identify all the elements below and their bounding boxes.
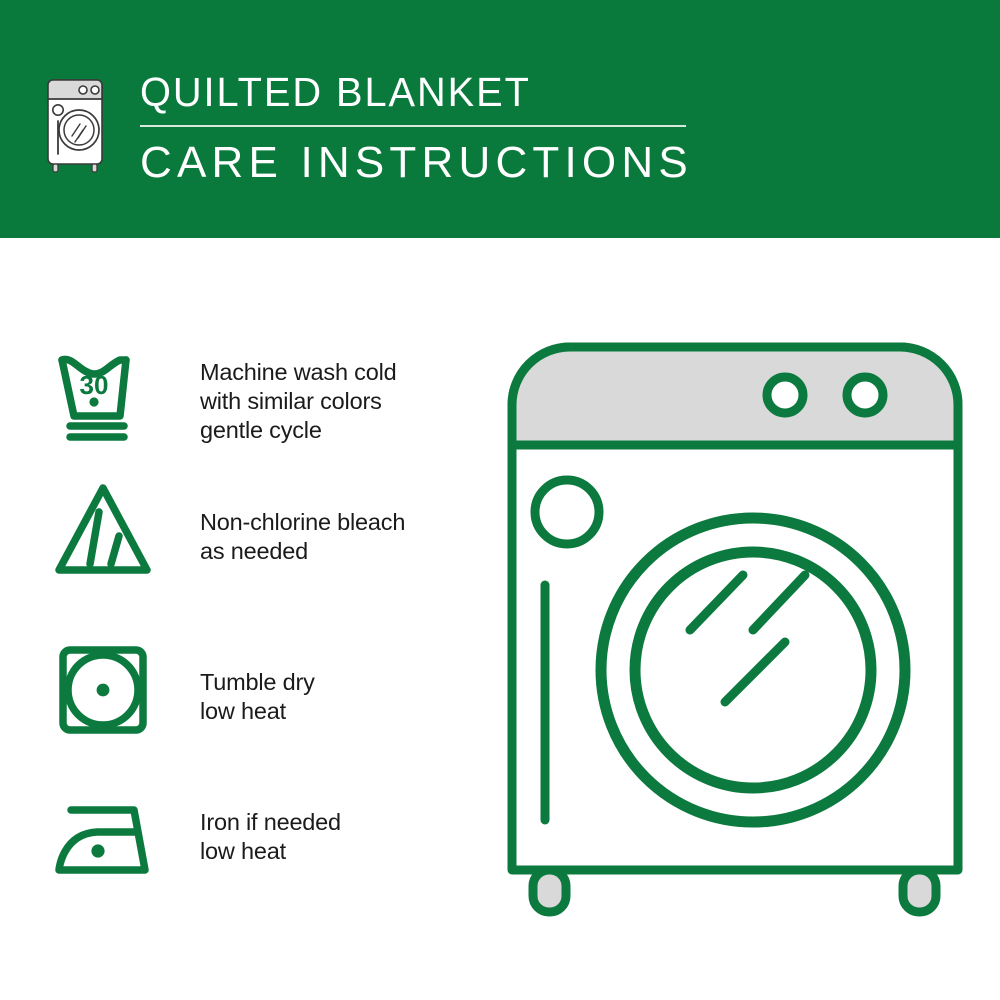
wash-tub-30-gentle-icon: 30 — [50, 342, 162, 446]
care-line: Iron if needed — [200, 808, 490, 837]
knob-left — [767, 377, 803, 413]
care-text-tumble-dry: Tumble dry low heat — [200, 668, 490, 726]
triangle-non-chlorine-bleach-icon — [50, 478, 162, 582]
care-line: Tumble dry — [200, 668, 490, 697]
care-line: gentle cycle — [200, 416, 490, 445]
care-text-iron: Iron if needed low heat — [200, 808, 490, 866]
wash-temperature-label: 30 — [80, 370, 109, 400]
care-text-wash: Machine wash cold with similar colors ge… — [200, 358, 490, 445]
knob-right — [847, 377, 883, 413]
detergent-dial — [535, 480, 599, 544]
front-load-washing-machine-illustration — [495, 330, 975, 930]
care-line: Machine wash cold — [200, 358, 490, 387]
tumble-dry-low-heat-icon — [50, 638, 162, 742]
iron-low-heat-icon — [50, 788, 162, 892]
title-divider — [140, 125, 686, 127]
header-title-block: QUILTED BLANKET CARE INSTRUCTIONS — [140, 66, 840, 191]
page-title-primary: QUILTED BLANKET — [140, 66, 819, 118]
care-line: with similar colors — [200, 387, 490, 416]
page-title-secondary: CARE INSTRUCTIONS — [140, 135, 840, 191]
care-text-bleach: Non-chlorine bleach as needed — [200, 508, 490, 566]
leg-left — [533, 870, 566, 912]
care-line: low heat — [200, 837, 490, 866]
care-line: low heat — [200, 697, 490, 726]
header-banner: QUILTED BLANKET CARE INSTRUCTIONS — [0, 0, 1000, 238]
care-line: Non-chlorine bleach — [200, 508, 490, 537]
care-instructions-page: QUILTED BLANKET CARE INSTRUCTIONS 30 — [0, 0, 1000, 1000]
washing-machine-logo-icon — [44, 72, 110, 176]
control-panel — [512, 347, 958, 445]
leg-right — [903, 870, 936, 912]
care-line: as needed — [200, 537, 490, 566]
